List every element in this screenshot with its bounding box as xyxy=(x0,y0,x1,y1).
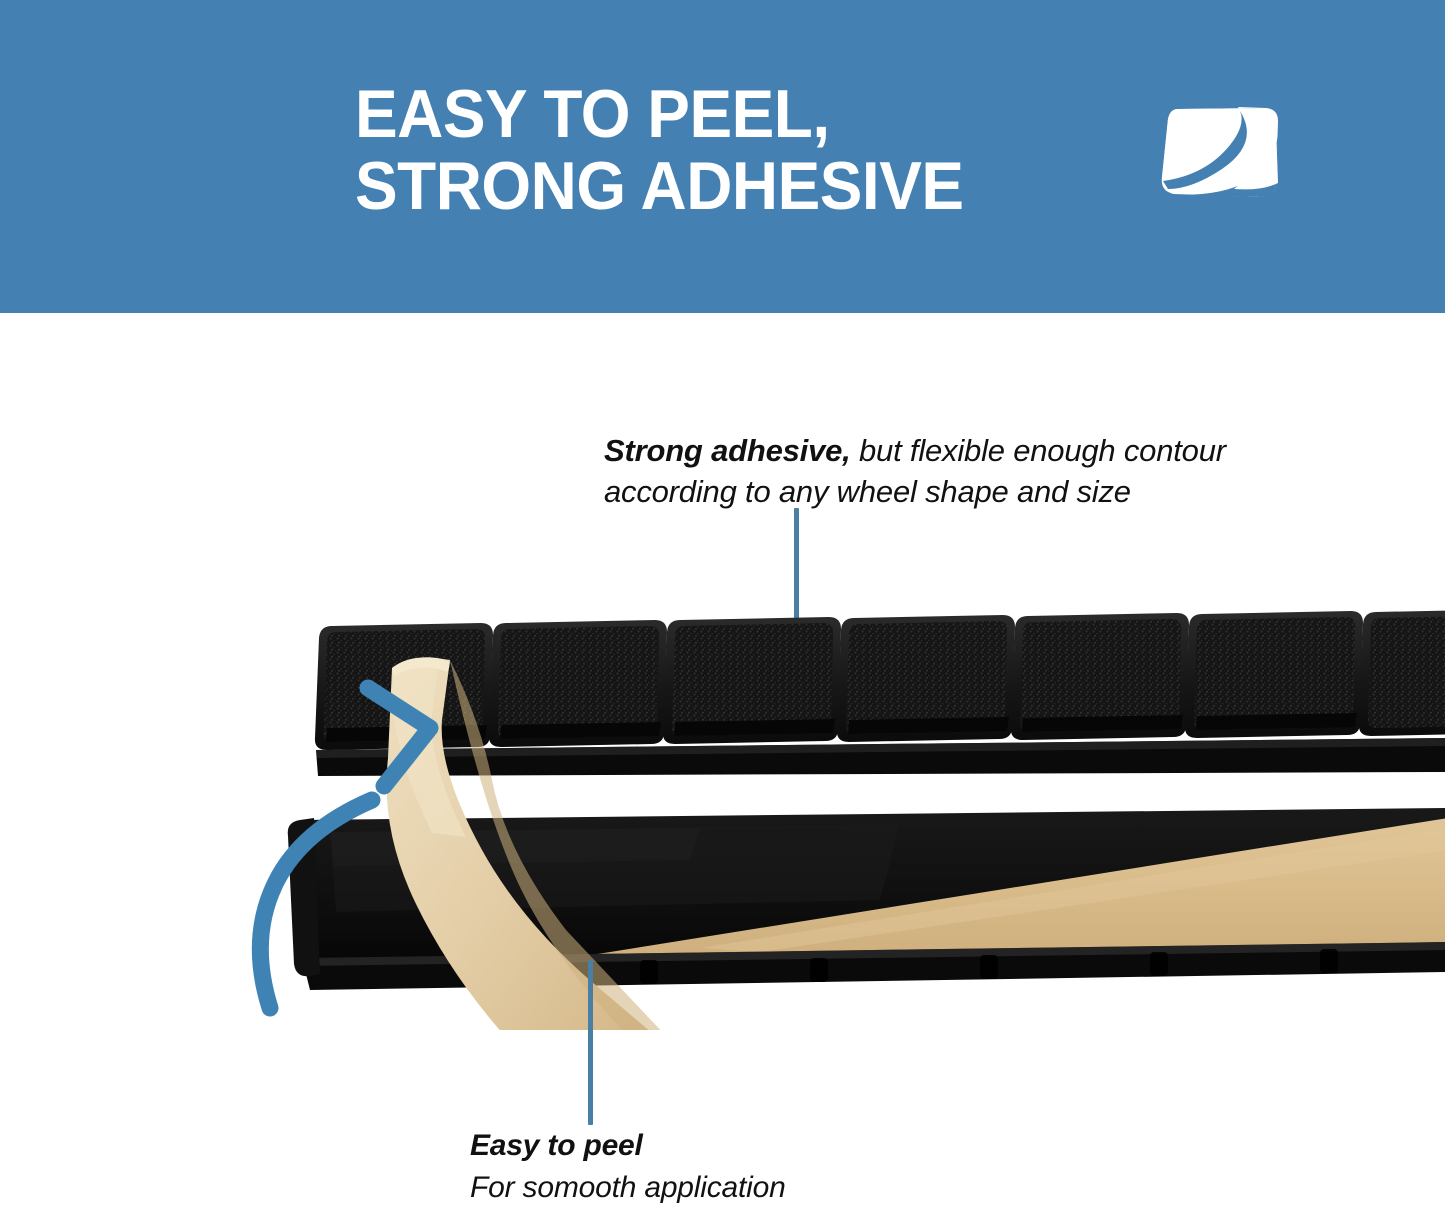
header-content: EASY TO PEEL, STRONG ADHESIVE xyxy=(355,78,1355,238)
header-band: EASY TO PEEL, STRONG ADHESIVE xyxy=(0,0,1445,313)
callout-bottom-sub: For somooth application xyxy=(470,1167,1030,1207)
callout-strong-adhesive: Strong adhesive, but flexible enough con… xyxy=(604,430,1364,512)
page-title: EASY TO PEEL, STRONG ADHESIVE xyxy=(355,78,1088,222)
callout-easy-to-peel: Easy to peel For somooth application xyxy=(470,1125,1030,1207)
brand-swoosh-logo xyxy=(1160,99,1280,207)
leader-line-bottom xyxy=(588,960,593,1125)
product-photo xyxy=(0,560,1445,1030)
callout-top-lead: Strong adhesive, xyxy=(604,433,851,468)
callout-bottom-lead: Easy to peel xyxy=(470,1125,1030,1167)
infographic-page: EASY TO PEEL, STRONG ADHESIVE Strong adh… xyxy=(0,0,1445,1207)
